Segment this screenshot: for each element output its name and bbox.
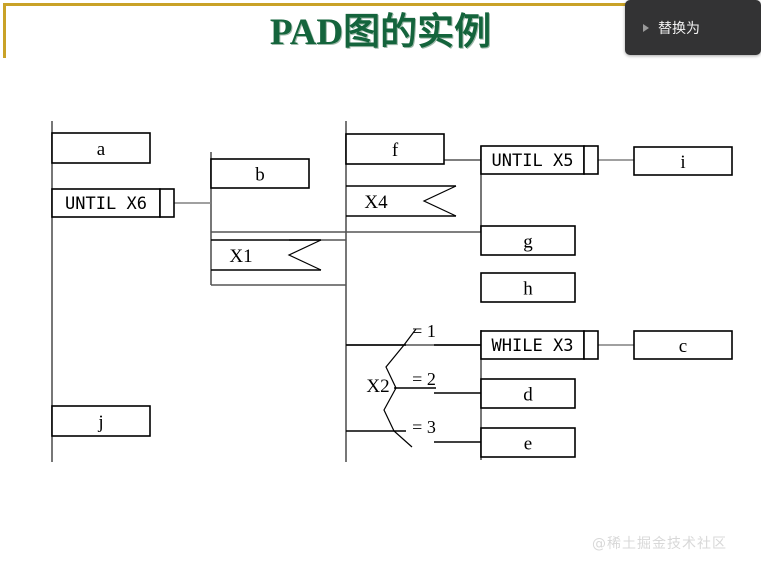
box-label-a: a — [97, 139, 106, 160]
decision-chevron-x4 — [424, 186, 456, 216]
box-label-x4: X4 — [364, 192, 388, 213]
case-label-case3: = 3 — [412, 417, 436, 437]
box-label-x1: X1 — [229, 246, 252, 267]
box-label-c: c — [679, 336, 687, 357]
case-label-case1: = 1 — [412, 321, 436, 341]
decision-chevron-x1 — [289, 240, 321, 270]
box-label-h: h — [523, 279, 533, 300]
box-label-f: f — [392, 140, 399, 161]
box-label-until_x5: UNTIL X5 — [492, 151, 574, 171]
box-label-i: i — [680, 152, 685, 173]
case-label-case2: = 2 — [412, 369, 436, 389]
loop-indicator-while_x3 — [584, 331, 598, 359]
loop-indicator-until_x6 — [160, 189, 174, 217]
box-label-while_x3: WHILE X3 — [492, 336, 574, 356]
loop-indicator-until_x5 — [584, 146, 598, 174]
box-label-e: e — [524, 434, 532, 455]
watermark: @稀土掘金技术社区 — [592, 533, 727, 553]
box-label-g: g — [523, 232, 533, 253]
box-label-j: j — [97, 412, 103, 433]
pad-diagram: aUNTIL X6jbX1fX4X2UNTIL X5ighWHILE X3cde… — [0, 0, 761, 569]
box-label-x2: X2 — [366, 376, 389, 397]
box-label-d: d — [523, 385, 533, 406]
box-label-b: b — [255, 165, 265, 186]
slide-canvas: PAD图的实例 替换为 aUNTIL X6jbX1fX4X2UNTIL X5ig… — [0, 0, 761, 569]
box-label-until_x6: UNTIL X6 — [65, 194, 147, 214]
